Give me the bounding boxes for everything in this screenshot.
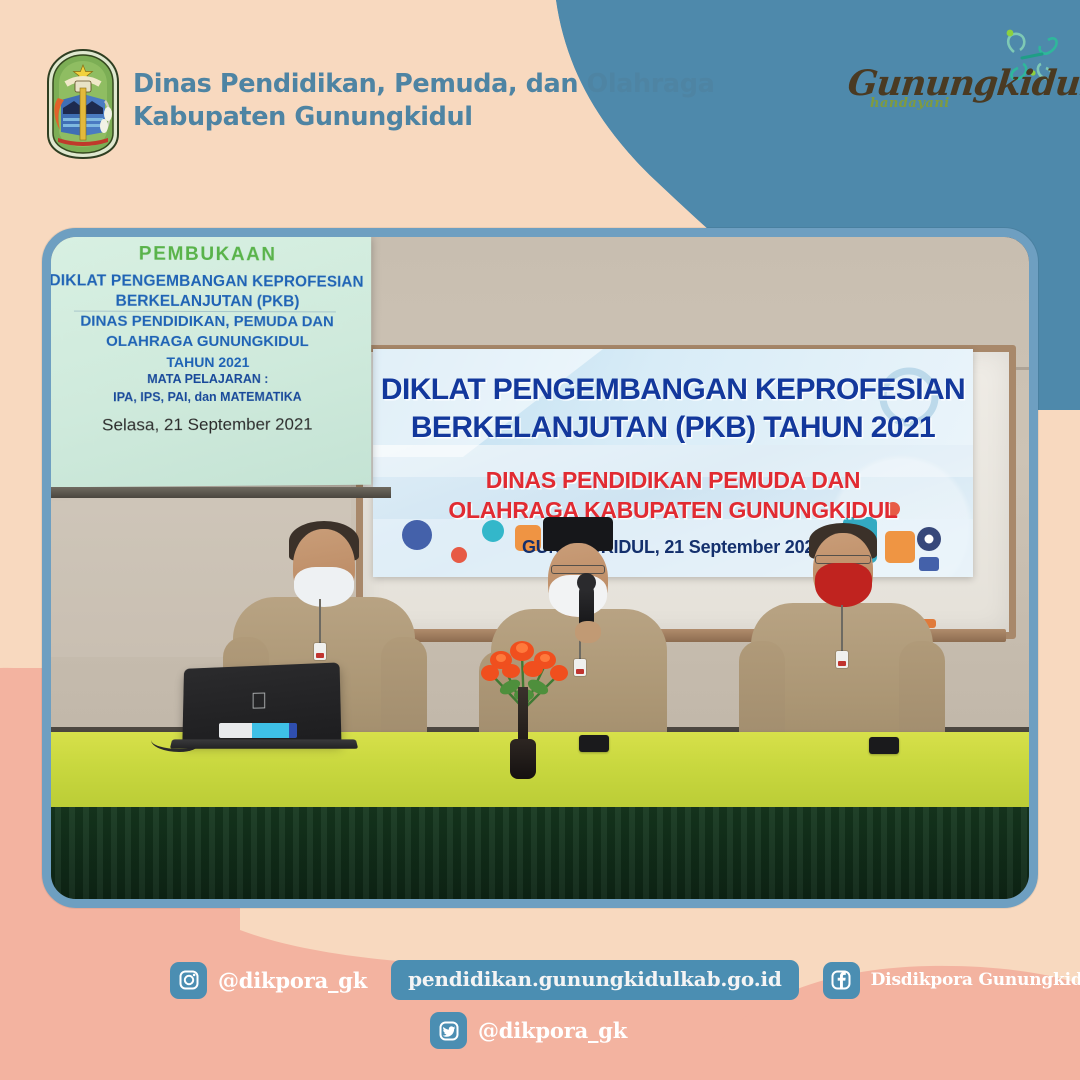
table-skirt [42, 807, 1038, 908]
laptop-sticker [219, 723, 297, 738]
slide-heading: PEMBUKAAN [42, 244, 371, 267]
poster-canvas: Dinas Pendidikan, Pemuda, dan Olahraga K… [0, 0, 1080, 1080]
slide-line-1: DIKLAT PENGEMBANGAN KEPROFESIAN [42, 272, 371, 291]
flower-vase [506, 667, 540, 779]
laptop-base [170, 739, 358, 748]
poster-header: Dinas Pendidikan, Pemuda, dan Olahraga K… [0, 0, 700, 190]
instagram-link[interactable]: @dikpora_gk [170, 962, 367, 999]
facebook-page-name: Disdikpora Gunungkidul [871, 970, 1080, 990]
slide-line-4: OLAHRAGA GUNUNGKIDUL [42, 334, 371, 351]
projector-screen: PEMBUKAAN DIKLAT PENGEMBANGAN KEPROFESIA… [42, 232, 371, 488]
face-mask-left [294, 567, 354, 607]
slide-line-6: MATA PELAJARAN : [42, 373, 371, 387]
facebook-link[interactable]: Disdikpora Gunungkidul [823, 962, 1080, 999]
twitter-icon [430, 1012, 467, 1049]
banner-line-1: DIKLAT PENGEMBANGAN KEPROFESIAN [373, 373, 973, 407]
slide-line-3: DINAS PENDIDIKAN, PEMUDA DAN [42, 314, 371, 331]
phone-center [579, 735, 609, 752]
slide-line-5: TAHUN 2021 [42, 355, 371, 371]
gunungkidul-brand-logo: Gunungkidul handayani [848, 30, 1058, 125]
header-title-block: Dinas Pendidikan, Pemuda, dan Olahraga K… [133, 68, 714, 134]
slide-date: Selasa, 21 September 2021 [42, 415, 371, 435]
banner-line-3: DINAS PENDIDIKAN PEMUDA DAN [373, 467, 973, 494]
event-photo-card: DIKLAT PENGEMBANGAN KEPROFESIAN BERKELAN… [42, 228, 1038, 908]
instagram-icon [170, 962, 207, 999]
footer-row-secondary: @dikpora_gk [430, 1012, 627, 1049]
twitter-handle: @dikpora_gk [478, 1018, 627, 1043]
phone-right [869, 737, 899, 754]
brand-tagline: handayani [870, 96, 950, 111]
gunungkidul-regency-emblem-icon [44, 48, 122, 160]
apple-logo-icon:  [251, 689, 268, 712]
facebook-icon [823, 962, 860, 999]
banner-line-2: BERKELANJUTAN (PKB) TAHUN 2021 [373, 411, 973, 445]
slide-line-7: IPA, IPS, PAI, dan MATEMATIKA [42, 391, 371, 406]
instagram-handle: @dikpora_gk [218, 968, 367, 993]
page-title-line-2: Kabupaten Gunungkidul [133, 101, 714, 134]
event-photograph: DIKLAT PENGEMBANGAN KEPROFESIAN BERKELAN… [51, 237, 1029, 899]
face-mask-right [815, 563, 872, 607]
twitter-link[interactable]: @dikpora_gk [430, 1012, 627, 1049]
footer-row-primary: @dikpora_gk pendidikan.gunungkidulkab.go… [170, 960, 1080, 1000]
website-link[interactable]: pendidikan.gunungkidulkab.go.id [391, 960, 799, 1000]
website-url: pendidikan.gunungkidulkab.go.id [408, 967, 782, 991]
event-banner: DIKLAT PENGEMBANGAN KEPROFESIAN BERKELAN… [373, 349, 973, 577]
page-title-line-1: Dinas Pendidikan, Pemuda, dan Olahraga [133, 68, 714, 101]
banner-line-4: OLAHRAGA KABUPATEN GUNUNGKIDUL [373, 497, 973, 524]
social-footer: @dikpora_gk pendidikan.gunungkidulkab.go… [0, 940, 1080, 1080]
projector-screen-bar [42, 487, 391, 498]
slide-line-2: BERKELANJUTAN (PKB) [42, 292, 371, 310]
banner-line-5: GUNUNGKIDUL, 21 September 2021 [373, 537, 973, 558]
